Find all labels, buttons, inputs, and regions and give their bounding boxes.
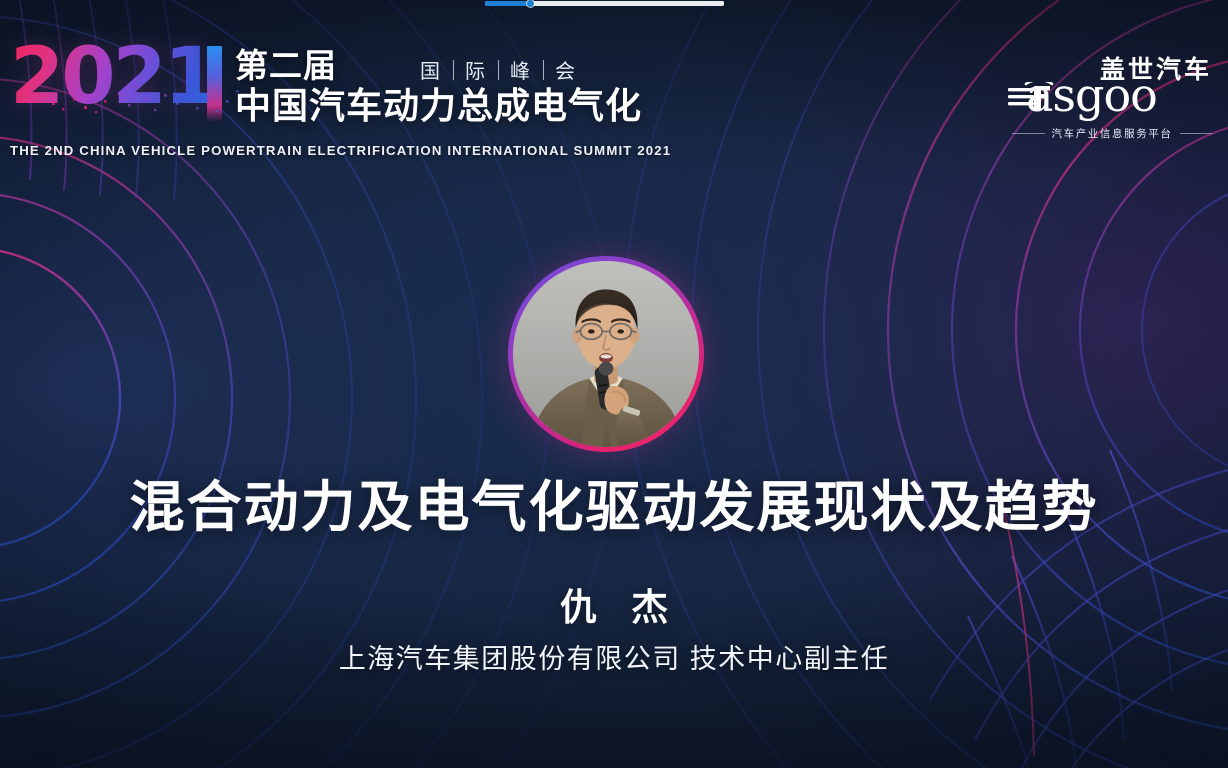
speaker-avatar: [513, 261, 699, 447]
kicker-separator: [543, 60, 544, 80]
kicker-char-2: 际: [465, 55, 487, 84]
speaker-role: 上海汽车集团股份有限公司 技术中心副主任: [0, 637, 1228, 676]
kicker-char-1: 国: [420, 55, 442, 84]
slide-header: 2021: [0, 0, 1228, 180]
kicker-char-3: 峰: [510, 55, 532, 84]
kicker-separator: [498, 60, 499, 80]
event-year-logo: 2021: [10, 42, 219, 114]
tagline-rule-right: [1180, 133, 1213, 134]
brand-tagline-text: 汽车产业信息服务平台: [1052, 126, 1173, 141]
brand-name-en: asgoo: [1026, 72, 1157, 118]
gasgoo-brand-logo: 盖世汽车 asgoo 汽车产业信息服务平台: [1008, 48, 1214, 122]
event-name-cn: 中国汽车动力总成电气化: [235, 87, 642, 126]
speaker-photo-illustration: [513, 261, 699, 447]
event-name-en: THE 2ND CHINA VEHICLE POWERTRAIN ELECTRI…: [10, 143, 671, 158]
kicker-separator: [453, 60, 454, 80]
speaker-name: 仇 杰: [0, 577, 1228, 631]
speaker-avatar-ring: [508, 256, 704, 452]
presentation-slide: 2021: [0, 0, 1228, 768]
kicker-char-4: 会: [555, 55, 577, 84]
tagline-rule-left: [1012, 133, 1045, 134]
talk-title: 混合动力及电气化驱动发展现状及趋势: [0, 480, 1228, 535]
summit-kicker: 国 际 峰 会: [420, 55, 577, 84]
brand-tagline-row: 汽车产业信息服务平台: [1012, 126, 1212, 141]
